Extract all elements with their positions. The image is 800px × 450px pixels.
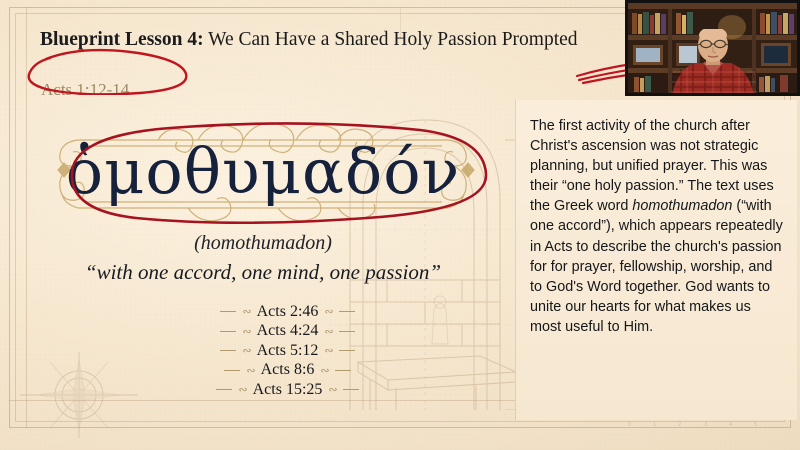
rule-left	[220, 350, 236, 351]
rule-left	[224, 370, 240, 371]
scripture-reference-subtitle: Acts 1:12-14	[41, 80, 129, 100]
presenter-webcam[interactable]	[625, 0, 800, 96]
scripture-reference-list: ∾ Acts 2:46 ∾ ∾ Acts 4:24 ∾ ∾ Acts 5:12 …	[150, 302, 425, 400]
rule-left	[220, 331, 236, 332]
explanation-panel: The first activity of the church after C…	[515, 100, 797, 420]
gloss-translation: “with one accord, one mind, one passion”	[20, 260, 506, 285]
flourish-left-icon: ∾	[246, 364, 254, 377]
explanation-emphasis-word: homothumadon	[632, 198, 732, 214]
compass-rose-icon	[20, 352, 138, 438]
svg-text:0: 0	[628, 422, 631, 428]
flourish-right-icon: ∾	[324, 344, 332, 357]
list-item: ∾ Acts 8:6 ∾	[150, 361, 425, 381]
flourish-left-icon: ∾	[242, 305, 250, 318]
rule-right	[343, 389, 359, 390]
flourish-left-icon: ∾	[238, 383, 246, 396]
flourish-left-icon: ∾	[242, 325, 250, 338]
explanation-part-2: (“with one accord”), which appears repea…	[530, 198, 783, 335]
flourish-left-icon: ∾	[242, 344, 250, 357]
list-item: ∾ Acts 5:12 ∾	[150, 341, 425, 361]
flourish-right-icon: ∾	[324, 325, 332, 338]
greek-word-block: ὁμοθυμαδόν	[38, 112, 488, 237]
rule-right	[339, 331, 355, 332]
flourish-right-icon: ∾	[324, 305, 332, 318]
reference-text: Acts 15:25	[253, 381, 323, 399]
svg-text:2: 2	[678, 422, 681, 428]
rule-left	[220, 311, 236, 312]
page-title: Blueprint Lesson 4: We Can Have a Shared…	[40, 28, 660, 52]
rule-left	[216, 389, 232, 390]
svg-text:4: 4	[729, 422, 732, 428]
flourish-right-icon: ∾	[328, 383, 336, 396]
rule-right	[335, 370, 351, 371]
page-title-lesson: Blueprint Lesson 4:	[40, 29, 204, 50]
list-item: ∾ Acts 2:46 ∾	[150, 302, 425, 322]
rule-right	[339, 311, 355, 312]
reference-text: Acts 5:12	[257, 342, 319, 360]
list-item: ∾ Acts 4:24 ∾	[150, 322, 425, 342]
reference-text: Acts 8:6	[261, 361, 315, 379]
reference-text: Acts 4:24	[257, 322, 319, 340]
presentation-slide: 012 345 Blueprint Lesson 4: We Can Have …	[0, 0, 800, 450]
svg-text:3: 3	[704, 422, 707, 428]
rule-right	[339, 350, 355, 351]
greek-word: ὁμοθυμαδόν	[38, 130, 488, 214]
explanation-paragraph: The first activity of the church after C…	[530, 116, 785, 337]
list-item: ∾ Acts 15:25 ∾	[150, 380, 425, 400]
reference-text: Acts 2:46	[257, 303, 319, 321]
flourish-right-icon: ∾	[320, 364, 328, 377]
svg-text:5: 5	[754, 422, 757, 428]
page-title-rest: We Can Have a Shared Holy Passion Prompt…	[204, 29, 578, 50]
svg-text:1: 1	[653, 422, 656, 428]
presenter-figure	[665, 29, 761, 96]
transliteration: (homothumadon)	[38, 232, 488, 255]
